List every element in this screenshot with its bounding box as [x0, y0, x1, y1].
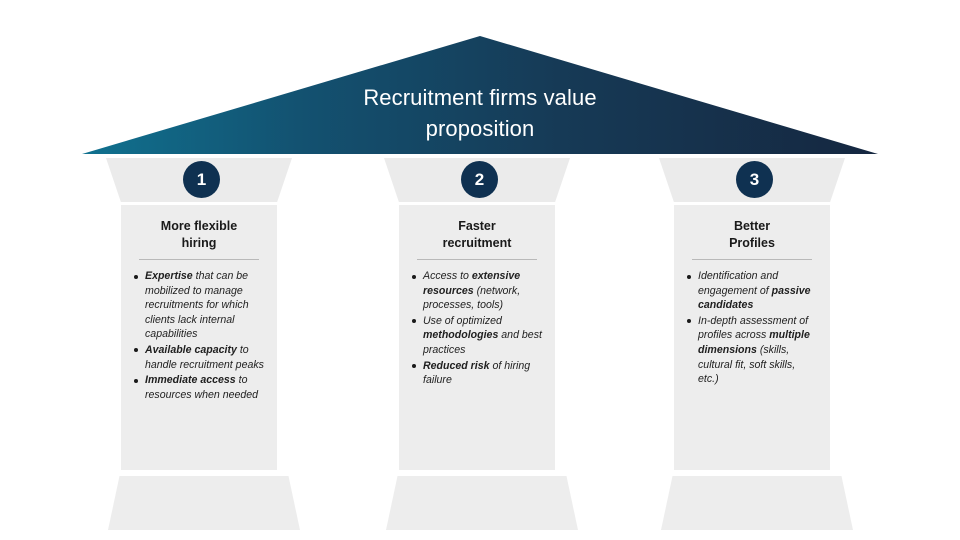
- pillar-1[interactable]: 1 More flexible hiring Expertise that ca…: [106, 158, 302, 530]
- pillar-1-benefit-list: Expertise that can be mobilized to manag…: [121, 269, 277, 402]
- pillar-2-item-2-strong: methodologies: [423, 329, 498, 341]
- pillar-2-divider: [417, 259, 537, 260]
- pillar-2-item-3-strong: Reduced risk: [423, 360, 490, 372]
- pillar-2-heading-line1: Faster: [458, 219, 496, 233]
- pillar-2-heading-line2: recruitment: [443, 236, 512, 250]
- pillar-3-item-1-pre: Identification and engagement of: [698, 270, 778, 297]
- pillar-2-shaft: Faster recruitment Access to extensive r…: [399, 205, 555, 470]
- pillar-3-divider: [692, 259, 812, 260]
- list-item: Expertise that can be mobilized to manag…: [145, 269, 264, 342]
- pillar-3-number-badge: 3: [736, 161, 773, 198]
- pillar-3-shaft: Better Profiles Identification and engag…: [674, 205, 830, 470]
- pillar-2-base: [386, 476, 578, 530]
- pillar-2-number-badge: 2: [461, 161, 498, 198]
- list-item: Immediate access to resources when neede…: [145, 373, 264, 402]
- list-item: Available capacity to handle recruitment…: [145, 343, 264, 372]
- pillar-2-item-2-pre: Use of optimized: [423, 315, 502, 327]
- list-item: Use of optimized methodologies and best …: [423, 314, 542, 358]
- pillar-1-shaft: More flexible hiring Expertise that can …: [121, 205, 277, 470]
- list-item: In-depth assessment of profiles across m…: [698, 314, 817, 387]
- list-item: Reduced risk of hiring failure: [423, 359, 542, 388]
- pillar-3-heading-line2: Profiles: [729, 236, 775, 250]
- pillar-1-heading-line2: hiring: [182, 236, 217, 250]
- list-item: Access to extensive resources (network, …: [423, 269, 542, 313]
- pillar-1-base: [108, 476, 300, 530]
- pillar-1-item-1-strong: Expertise: [145, 270, 193, 282]
- roof-triangle-icon: [0, 0, 960, 160]
- pillar-1-number-badge: 1: [183, 161, 220, 198]
- list-item: Identification and engagement of passive…: [698, 269, 817, 313]
- pillar-1-heading: More flexible hiring: [137, 218, 261, 252]
- pillar-1-item-2-strong: Available capacity: [145, 344, 237, 356]
- pillar-3-heading: Better Profiles: [690, 218, 814, 252]
- pillar-3-heading-line1: Better: [734, 219, 770, 233]
- pillar-3-base: [661, 476, 853, 530]
- pillar-1-item-3-strong: Immediate access: [145, 374, 236, 386]
- pillar-1-divider: [139, 259, 259, 260]
- pillar-3-benefit-list: Identification and engagement of passive…: [674, 269, 830, 387]
- pillar-3[interactable]: 3 Better Profiles Identification and eng…: [659, 158, 855, 530]
- temple-diagram: Recruitment firms value proposition 1 Mo…: [0, 0, 960, 540]
- pillar-2[interactable]: 2 Faster recruitment Access to extensive…: [384, 158, 580, 530]
- pillar-2-heading: Faster recruitment: [415, 218, 539, 252]
- pillar-2-item-1-pre: Access to: [423, 270, 472, 282]
- pillar-2-benefit-list: Access to extensive resources (network, …: [399, 269, 555, 388]
- roof-pediment: Recruitment firms value proposition: [0, 0, 960, 160]
- pillar-1-heading-line1: More flexible: [161, 219, 237, 233]
